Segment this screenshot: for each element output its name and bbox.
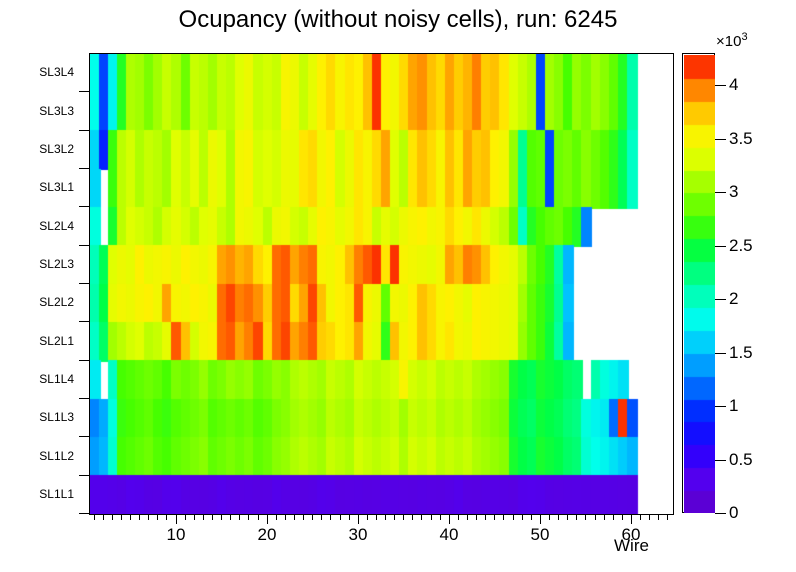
colorbar-gradient[interactable] [682, 53, 715, 513]
x-axis-tick [640, 514, 641, 520]
x-axis-tick [604, 514, 605, 520]
y-axis-label-sl3l1: SL3L1 [39, 180, 74, 194]
x-axis-tick [221, 514, 222, 520]
x-axis-tick [622, 514, 623, 520]
y-axis-tick [79, 91, 89, 92]
y-axis-label-sl1l3: SL1L3 [39, 410, 74, 424]
y-axis-label-sl3l2: SL3L2 [39, 142, 74, 156]
x-axis-tick [531, 514, 532, 520]
x-axis-tick [267, 514, 268, 524]
x-axis-tick [367, 514, 368, 520]
y-axis-tick [79, 206, 89, 207]
colorbar-exponent-label: ×103 [716, 31, 748, 50]
x-axis-tick [303, 514, 304, 520]
x-axis-tick [485, 514, 486, 520]
x-axis-tick [667, 514, 668, 520]
y-axis-tick [79, 398, 89, 399]
heatmap-plot-area[interactable] [89, 53, 674, 515]
x-axis-tick [376, 514, 377, 520]
y-axis: SL3L4SL3L3SL3L2SL3L1SL2L4SL2L3SL2L2SL2L1… [0, 53, 86, 513]
x-axis-tick-label-30: 30 [349, 525, 368, 545]
x-axis: 102030405060 [89, 514, 673, 554]
y-axis-tick [79, 130, 89, 131]
x-axis-tick [121, 514, 122, 520]
colorbar-tick-label-2.5: 2.5 [729, 236, 753, 256]
x-axis-tick [285, 514, 286, 520]
x-axis-tick [476, 514, 477, 520]
x-axis-tick [239, 514, 240, 520]
x-axis-tick [576, 514, 577, 520]
x-axis-tick [567, 514, 568, 520]
colorbar-tick-label-1.5: 1.5 [729, 343, 753, 363]
x-axis-tick-label-50: 50 [531, 525, 550, 545]
x-axis-tick [358, 514, 359, 524]
x-axis-tick [595, 514, 596, 520]
x-axis-tick [148, 514, 149, 520]
x-axis-tick [312, 514, 313, 520]
colorbar-tick [715, 192, 726, 193]
colorbar-tick-label-3.5: 3.5 [729, 129, 753, 149]
colorbar-tick-label-0.5: 0.5 [729, 450, 753, 470]
y-axis-label-sl2l2: SL2L2 [39, 295, 74, 309]
y-axis-tick [79, 436, 89, 437]
y-axis-tick [79, 283, 89, 284]
colorbar-tick [715, 353, 726, 354]
x-axis-tick [103, 514, 104, 520]
y-axis-tick [79, 475, 89, 476]
x-axis-tick [166, 514, 167, 520]
x-axis-tick [458, 514, 459, 520]
x-axis-tick [94, 514, 95, 520]
x-axis-tick [421, 514, 422, 520]
x-axis-tick [130, 514, 131, 520]
heatmap-canvas[interactable] [90, 54, 673, 514]
x-axis-tick [513, 514, 514, 520]
x-axis-title: Wire [614, 536, 649, 556]
x-axis-tick [276, 514, 277, 520]
colorbar-tick-label-0: 0 [729, 503, 738, 523]
x-axis-tick [230, 514, 231, 520]
x-axis-tick [330, 514, 331, 520]
colorbar-tick-label-4: 4 [729, 75, 738, 95]
y-axis-label-sl2l1: SL2L1 [39, 334, 74, 348]
colorbar-tick [715, 139, 726, 140]
x-axis-tick [194, 514, 195, 520]
y-axis-tick [79, 513, 89, 514]
colorbar-tick [715, 406, 726, 407]
colorbar-tick-label-1: 1 [729, 396, 738, 416]
y-axis-label-sl2l3: SL2L3 [39, 257, 74, 271]
x-axis-tick [540, 514, 541, 524]
root-plot-canvas: Ocupancy (without noisy cells), run: 624… [0, 0, 796, 572]
colorbar-tick [715, 460, 726, 461]
x-axis-tick [176, 514, 177, 524]
x-axis-tick [112, 514, 113, 520]
y-axis-tick [79, 360, 89, 361]
y-axis-label-sl1l2: SL1L2 [39, 449, 74, 463]
x-axis-tick [522, 514, 523, 520]
x-axis-tick [613, 514, 614, 520]
y-axis-label-sl1l1: SL1L1 [39, 487, 74, 501]
x-axis-tick [385, 514, 386, 520]
x-axis-tick [431, 514, 432, 520]
colorbar-tick [715, 299, 726, 300]
x-axis-tick [658, 514, 659, 520]
colorbar-tick [715, 85, 726, 86]
y-axis-label-sl1l4: SL1L4 [39, 372, 74, 386]
x-axis-tick-label-10: 10 [167, 525, 186, 545]
x-axis-tick [258, 514, 259, 520]
colorbar-tick-label-3: 3 [729, 182, 738, 202]
x-axis-tick [412, 514, 413, 520]
colorbar-tick [715, 246, 726, 247]
x-axis-tick [157, 514, 158, 520]
x-axis-tick [203, 514, 204, 520]
y-axis-label-sl2l4: SL2L4 [39, 219, 74, 233]
x-axis-tick-label-40: 40 [440, 525, 459, 545]
x-axis-tick [440, 514, 441, 520]
x-axis-tick [449, 514, 450, 524]
x-axis-tick [467, 514, 468, 520]
x-axis-tick [185, 514, 186, 520]
page-title: Ocupancy (without noisy cells), run: 624… [0, 6, 796, 34]
x-axis-tick-label-20: 20 [258, 525, 277, 545]
colorbar[interactable]: ×103 00.511.522.533.54 [682, 53, 792, 513]
x-axis-tick [321, 514, 322, 520]
colorbar-exponent-superscript: 3 [741, 31, 747, 43]
y-axis-label-sl3l4: SL3L4 [39, 65, 74, 79]
y-axis-tick [79, 168, 89, 169]
x-axis-tick [394, 514, 395, 520]
x-axis-tick [631, 514, 632, 524]
x-axis-tick [139, 514, 140, 520]
x-axis-tick [549, 514, 550, 520]
x-axis-tick [585, 514, 586, 520]
x-axis-tick [503, 514, 504, 520]
x-axis-tick [212, 514, 213, 520]
y-axis-tick [79, 321, 89, 322]
x-axis-tick [248, 514, 249, 520]
x-axis-tick [403, 514, 404, 520]
x-axis-tick [649, 514, 650, 520]
colorbar-tick [715, 513, 726, 514]
y-axis-tick [79, 245, 89, 246]
x-axis-tick [340, 514, 341, 520]
y-axis-label-sl3l3: SL3L3 [39, 104, 74, 118]
colorbar-canvas [684, 55, 715, 513]
x-axis-tick [294, 514, 295, 520]
colorbar-tick-label-2: 2 [729, 289, 738, 309]
x-axis-tick [558, 514, 559, 520]
x-axis-tick [349, 514, 350, 520]
x-axis-tick [494, 514, 495, 520]
